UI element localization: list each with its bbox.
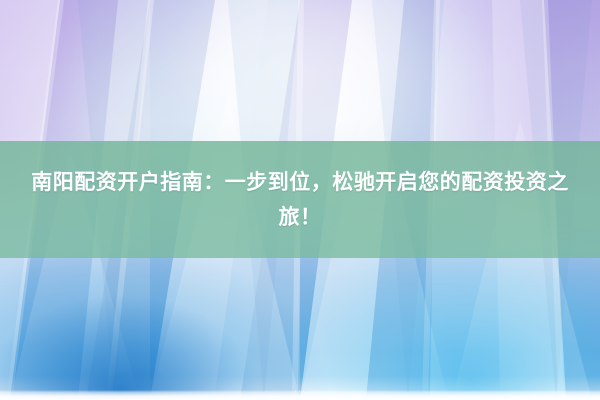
watermark-text: ··· [0,386,600,396]
promo-banner: 南阳配资开户指南：一步到位，松驰开启您的配资投资之旅！ ··· [0,0,600,400]
caption-band: 南阳配资开户指南：一步到位，松驰开启您的配资投资之旅！ [0,141,600,258]
banner-headline: 南阳配资开户指南：一步到位，松驰开启您的配资投资之旅！ [14,165,586,235]
